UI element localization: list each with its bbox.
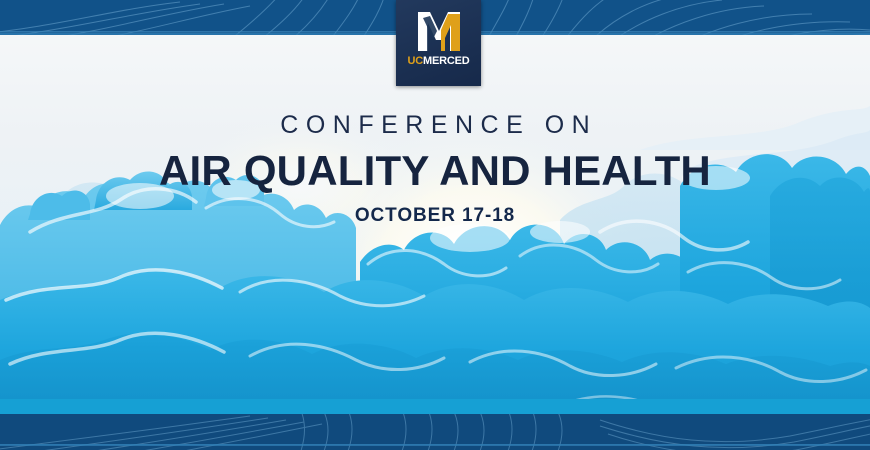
page-title: AIR QUALITY AND HEALTH <box>0 149 870 193</box>
event-date: OCTOBER 17-18 <box>0 206 870 227</box>
uc-merced-logo[interactable]: UCMERCED <box>396 0 481 86</box>
conference-banner: UCMERCED CONFERENCE ON AIR QUALITY AND H… <box>0 0 870 450</box>
headline-block: CONFERENCE ON AIR QUALITY AND HEALTH OCT… <box>0 112 870 226</box>
bottom-band-rule <box>0 444 870 446</box>
bottom-cyan-band <box>0 399 870 414</box>
wordmark-merced: MERCED <box>423 55 469 67</box>
bottom-contour-band <box>0 414 870 450</box>
uc-merced-wordmark: UCMERCED <box>408 56 470 67</box>
kicker-text: CONFERENCE ON <box>0 112 870 140</box>
wordmark-uc: UC <box>408 55 424 67</box>
uc-merced-m-monogram-icon <box>415 9 463 53</box>
